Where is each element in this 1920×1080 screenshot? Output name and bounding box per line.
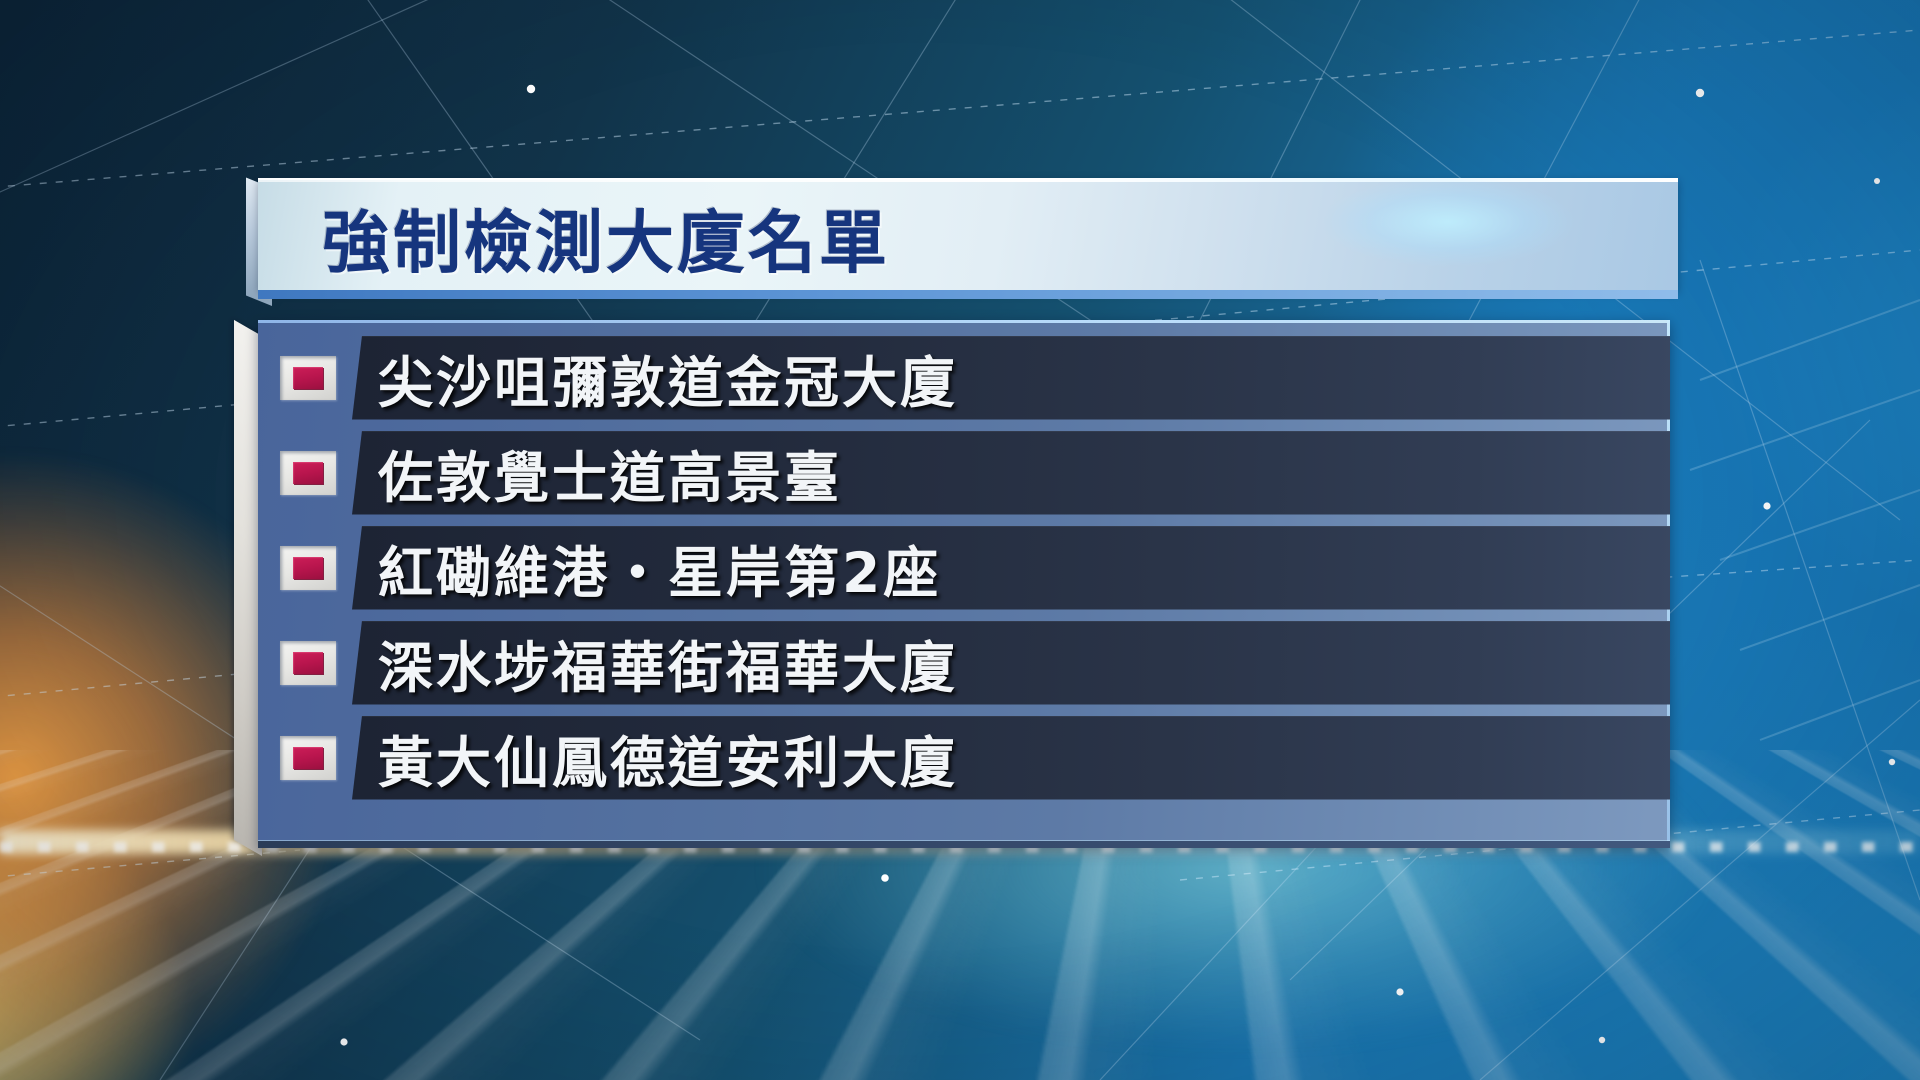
list-item: 佐敦覺士道高景臺 bbox=[258, 425, 1670, 520]
list-item-marker-cell bbox=[258, 330, 358, 425]
panel-bottom-edge bbox=[258, 841, 1670, 848]
building-list: 尖沙咀彌敦道金冠大廈 佐敦覺士道高景臺 紅磡維港 bbox=[258, 330, 1670, 805]
title-banner-top-highlight bbox=[258, 178, 1678, 182]
list-item-label: 深水埗福華街福華大廈 bbox=[352, 623, 958, 703]
list-item-slab: 佐敦覺士道高景臺 bbox=[352, 431, 1670, 515]
panel-top-edge bbox=[258, 320, 1670, 323]
page-title: 強制檢測大廈名單 bbox=[322, 188, 890, 287]
list-item: 黃大仙鳳德道安利大廈 bbox=[258, 710, 1670, 805]
list-item: 紅磡維港・星岸第2座 bbox=[258, 520, 1670, 615]
title-banner: 強制檢測大廈名單 bbox=[258, 178, 1678, 300]
list-item-marker-cell bbox=[258, 710, 358, 805]
red-square-bullet-icon bbox=[280, 641, 336, 685]
list-item-marker-cell bbox=[258, 425, 358, 520]
list-item: 深水埗福華街福華大廈 bbox=[258, 615, 1670, 710]
list-item-marker-cell bbox=[258, 520, 358, 615]
title-banner-underline bbox=[258, 290, 1678, 299]
list-item-label: 尖沙咀彌敦道金冠大廈 bbox=[352, 338, 958, 418]
red-square-bullet-icon bbox=[280, 356, 336, 400]
list-item-marker-cell bbox=[258, 615, 358, 710]
list-item-label: 紅磡維港・星岸第2座 bbox=[352, 528, 941, 608]
red-square-bullet-icon bbox=[280, 546, 336, 590]
list-item-label: 佐敦覺士道高景臺 bbox=[352, 433, 842, 513]
list-item-slab: 黃大仙鳳德道安利大廈 bbox=[352, 716, 1670, 800]
list-item: 尖沙咀彌敦道金冠大廈 bbox=[258, 330, 1670, 425]
red-square-bullet-icon bbox=[280, 736, 336, 780]
list-item-slab: 深水埗福華街福華大廈 bbox=[352, 621, 1670, 705]
list-item-slab: 紅磡維港・星岸第2座 bbox=[352, 526, 1670, 610]
panel-face: 尖沙咀彌敦道金冠大廈 佐敦覺士道高景臺 紅磡維港 bbox=[258, 320, 1670, 848]
list-item-label: 黃大仙鳳德道安利大廈 bbox=[352, 718, 958, 798]
building-list-panel: 尖沙咀彌敦道金冠大廈 佐敦覺士道高景臺 紅磡維港 bbox=[258, 320, 1670, 862]
list-item-slab: 尖沙咀彌敦道金冠大廈 bbox=[352, 336, 1670, 420]
broadcast-graphic-stage: 強制檢測大廈名單 尖沙咀彌敦道金冠大廈 bbox=[0, 0, 1920, 1080]
red-square-bullet-icon bbox=[280, 451, 336, 495]
